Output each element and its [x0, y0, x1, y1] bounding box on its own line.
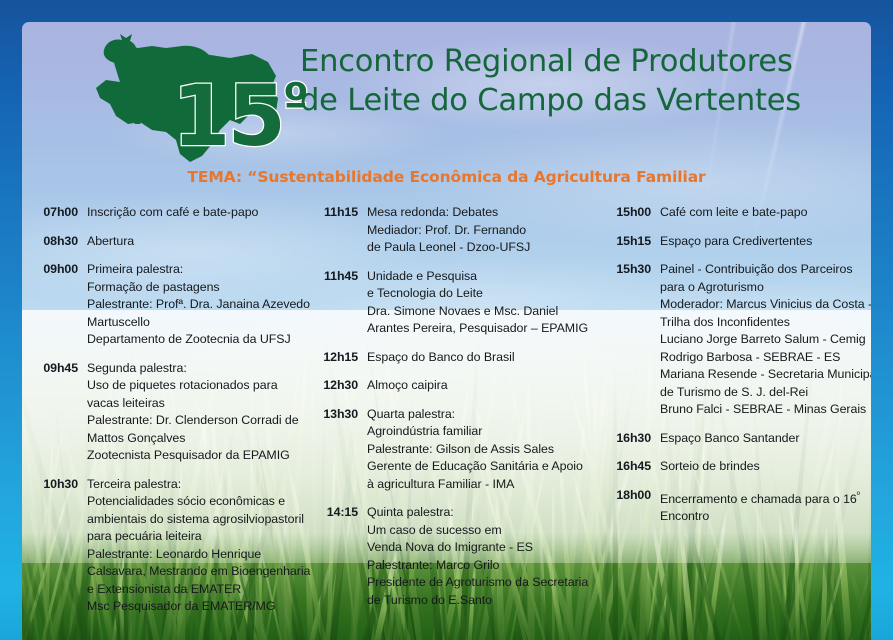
schedule-slot-time: 11h15 [312, 204, 367, 257]
schedule-slot-line: Um caso de sucesso em [367, 522, 588, 540]
schedule-slot-line: Formação de pastagens [87, 279, 310, 297]
schedule-slot: 15h30Painel - Contribuição dos Parceiros… [604, 261, 871, 419]
schedule-slot-line: de Turismo do E.Santo [367, 592, 588, 610]
schedule-slot-line: Palestrante: Gilson de Assis Sales [367, 441, 583, 459]
schedule-slot-line: Moderador: Marcus Vinicius da Costa - [660, 296, 871, 314]
schedule-slot-line: Uso de piquetes rotacionados para [87, 377, 299, 395]
schedule-column-3: 15h00Café com leite e bate-papo15h15Espa… [604, 204, 871, 627]
schedule-slot-line: Palestrante: Leonardo Henrique [87, 546, 310, 564]
schedule-slot-line: Encontro [660, 508, 860, 526]
schedule-slot-time: 16h45 [604, 458, 660, 476]
schedule-slot-time: 15h00 [604, 204, 660, 222]
schedule-slot-line: vacas leiteiras [87, 395, 299, 413]
schedule-slot-time: 15h30 [604, 261, 660, 419]
schedule-slot-line: Agroindústria familiar [367, 423, 583, 441]
schedule-slot-line: à agricultura Familiar - IMA [367, 476, 583, 494]
schedule-column-1: 07h00Inscrição com café e bate-papo08h30… [22, 204, 312, 627]
schedule-slot-time: 09h45 [30, 360, 87, 465]
schedule-slot-line: e Extensionista da EMATER [87, 581, 310, 599]
schedule-slot-line: Bruno Falci - SEBRAE - Minas Gerais [660, 401, 871, 419]
schedule-slot-time: 16h30 [604, 430, 660, 448]
theme-label: TEMA: [187, 168, 242, 186]
schedule-slot-line: Café com leite e bate-papo [660, 204, 807, 222]
schedule-slot-line: Mediador: Prof. Dr. Fernando [367, 222, 530, 240]
schedule-slot-time: 14:15 [312, 504, 367, 609]
schedule-slot-time: 09h00 [30, 261, 87, 349]
edition-number-value: 15 [172, 67, 283, 165]
schedule-slot-line: para pecuária leiteira [87, 528, 310, 546]
schedule-slot-line: Dra. Simone Novaes e Msc. Daniel [367, 303, 588, 321]
schedule-slot-line: Sorteio de brindes [660, 458, 760, 476]
theme-text: “Sustentabilidade Econômica da Agricultu… [247, 168, 705, 186]
schedule-slot-line: Painel - Contribuição dos Parceiros [660, 261, 871, 279]
schedule-slot-line: Quinta palestra: [367, 504, 588, 522]
schedule-slot-line: Palestrante: Profª. Dra. Janaina Azevedo [87, 296, 310, 314]
schedule-slot: 12h15Espaço do Banco do Brasil [312, 349, 604, 367]
schedule-slot: 11h15Mesa redonda: DebatesMediador: Prof… [312, 204, 604, 257]
schedule-slot-time: 18h00 [604, 487, 660, 526]
schedule-slot-time: 12h30 [312, 377, 367, 395]
schedule-slot: 16h45Sorteio de brindes [604, 458, 871, 476]
schedule-slot-line: Mesa redonda: Debates [367, 204, 530, 222]
schedule-slot-line: Mariana Resende - Secretaria Municipal [660, 366, 871, 384]
schedule-slot-description: Painel - Contribuição dos Parceirospara … [660, 261, 871, 419]
schedule-slot-line: para o Agroturismo [660, 279, 871, 297]
schedule-slot-line: Luciano Jorge Barreto Salum - Cemig [660, 331, 871, 349]
schedule-slot: 18h00Encerramento e chamada para o 16ºEn… [604, 487, 871, 526]
schedule-slot-line: Calsavara, Mestrando em Bioengenharia [87, 563, 310, 581]
schedule-slot-time: 10h30 [30, 476, 87, 616]
schedule-slot-line: Mattos Gonçalves [87, 430, 299, 448]
schedule-slot-description: Espaço para Credivertentes [660, 233, 812, 251]
schedule-slot: 07h00Inscrição com café e bate-papo [30, 204, 312, 222]
schedule-slot-line: Primeira palestra: [87, 261, 310, 279]
schedule-slot-time: 07h00 [30, 204, 87, 222]
schedule-slot-line: Segunda palestra: [87, 360, 299, 378]
schedule-slot-description: Segunda palestra:Uso de piquetes rotacio… [87, 360, 299, 465]
schedule-slot-line: Palestrante: Dr. Clenderson Corradi de [87, 412, 299, 430]
schedule-slot: 15h00Café com leite e bate-papo [604, 204, 871, 222]
schedule-slot-line: Gerente de Educação Sanitária e Apoio [367, 458, 583, 476]
schedule-slot-description: Quinta palestra:Um caso de sucesso emVen… [367, 504, 588, 609]
schedule-slot-time: 08h30 [30, 233, 87, 251]
schedule-slot-line: Unidade e Pesquisa [367, 268, 588, 286]
schedule-slot-line: Arantes Pereira, Pesquisador – EPAMIG [367, 320, 588, 338]
schedule-slot: 09h45Segunda palestra:Uso de piquetes ro… [30, 360, 312, 465]
schedule-slot-line: Potencialidades sócio econômicas e [87, 493, 310, 511]
schedule-slot-description: Terceira palestra:Potencialidades sócio … [87, 476, 310, 616]
schedule-slot-line: Almoço caipira [367, 377, 448, 395]
schedule-slot-description: Mesa redonda: DebatesMediador: Prof. Dr.… [367, 204, 530, 257]
schedule-slot: 12h30Almoço caipira [312, 377, 604, 395]
schedule-slot-line: e Tecnologia do Leite [367, 285, 588, 303]
schedule-slot-line: Terceira palestra: [87, 476, 310, 494]
event-poster: 15º Encontro Regional de Produtores de L… [0, 0, 893, 640]
schedule-slot-description: Espaço Banco Santander [660, 430, 799, 448]
schedule-slot-line: Palestrante: Marco Grilo [367, 557, 588, 575]
schedule-slot-line: Presidente de Agroturismo da Secretaria [367, 574, 588, 592]
schedule-slot-line: Zootecnista Pesquisador da EPAMIG [87, 447, 299, 465]
schedule-slot-description: Quarta palestra:Agroindústria familiarPa… [367, 406, 583, 494]
schedule-slot: 10h30Terceira palestra:Potencialidades s… [30, 476, 312, 616]
schedule-slot-line: Trilha dos Inconfidentes [660, 314, 871, 332]
schedule-slot-line: de Paula Leonel - Dzoo-UFSJ [367, 239, 530, 257]
schedule-slot-line: Espaço Banco Santander [660, 430, 799, 448]
schedule-slot-line: Espaço para Credivertentes [660, 233, 812, 251]
event-theme: TEMA: “Sustentabilidade Econômica da Agr… [22, 168, 871, 186]
schedule-slot-time: 11h45 [312, 268, 367, 338]
schedule-slot: 08h30Abertura [30, 233, 312, 251]
schedule-slot: 09h00Primeira palestra:Formação de pasta… [30, 261, 312, 349]
schedule-slot-line: Quarta palestra: [367, 406, 583, 424]
schedule-slot-description: Primeira palestra:Formação de pastagensP… [87, 261, 310, 349]
schedule-slot-description: Café com leite e bate-papo [660, 204, 807, 222]
schedule-slot-description: Sorteio de brindes [660, 458, 760, 476]
schedule-slot-line: Rodrigo Barbosa - SEBRAE - ES [660, 349, 871, 367]
schedule-slot-line: de Turismo de S. J. del-Rei [660, 384, 871, 402]
schedule-slot-description: Unidade e Pesquisae Tecnologia do LeiteD… [367, 268, 588, 338]
schedule-slot-time: 12h15 [312, 349, 367, 367]
schedule-slot-description: Espaço do Banco do Brasil [367, 349, 515, 367]
page-title: Encontro Regional de Produtores de Leite… [300, 42, 845, 120]
schedule-grid: 07h00Inscrição com café e bate-papo08h30… [22, 204, 871, 627]
schedule-slot-line: Encerramento e chamada para o 16º [660, 487, 860, 509]
schedule-slot: 13h30Quarta palestra:Agroindústria famil… [312, 406, 604, 494]
schedule-column-2: 11h15Mesa redonda: DebatesMediador: Prof… [312, 204, 604, 627]
schedule-slot-line: ambientais do sistema agrosilviopastoril [87, 511, 310, 529]
schedule-slot-line: Inscrição com café e bate-papo [87, 204, 258, 222]
poster-inner-panel: 15º Encontro Regional de Produtores de L… [22, 22, 871, 640]
schedule-slot-line: Martuscello [87, 314, 310, 332]
schedule-slot: 16h30Espaço Banco Santander [604, 430, 871, 448]
schedule-slot-line: Venda Nova do Imigrante - ES [367, 539, 588, 557]
schedule-slot-description: Abertura [87, 233, 134, 251]
title-line-2: de Leite do Campo das Vertentes [300, 81, 845, 120]
edition-number: 15º [172, 74, 309, 158]
title-line-1: Encontro Regional de Produtores [300, 42, 845, 81]
schedule-slot-description: Almoço caipira [367, 377, 448, 395]
schedule-slot-time: 15h15 [604, 233, 660, 251]
schedule-slot-line: Departamento de Zootecnia da UFSJ [87, 331, 310, 349]
schedule-slot-line: Espaço do Banco do Brasil [367, 349, 515, 367]
schedule-slot: 14:15Quinta palestra:Um caso de sucesso … [312, 504, 604, 609]
schedule-slot-description: Inscrição com café e bate-papo [87, 204, 258, 222]
schedule-slot-description: Encerramento e chamada para o 16ºEncontr… [660, 487, 860, 526]
schedule-slot-time: 13h30 [312, 406, 367, 494]
schedule-slot: 15h15Espaço para Credivertentes [604, 233, 871, 251]
schedule-slot-line: Msc Pesquisador da EMATER/MG [87, 598, 310, 616]
schedule-slot-line: Abertura [87, 233, 134, 251]
poster-header: 15º Encontro Regional de Produtores de L… [22, 22, 871, 192]
schedule-slot: 11h45Unidade e Pesquisae Tecnologia do L… [312, 268, 604, 338]
